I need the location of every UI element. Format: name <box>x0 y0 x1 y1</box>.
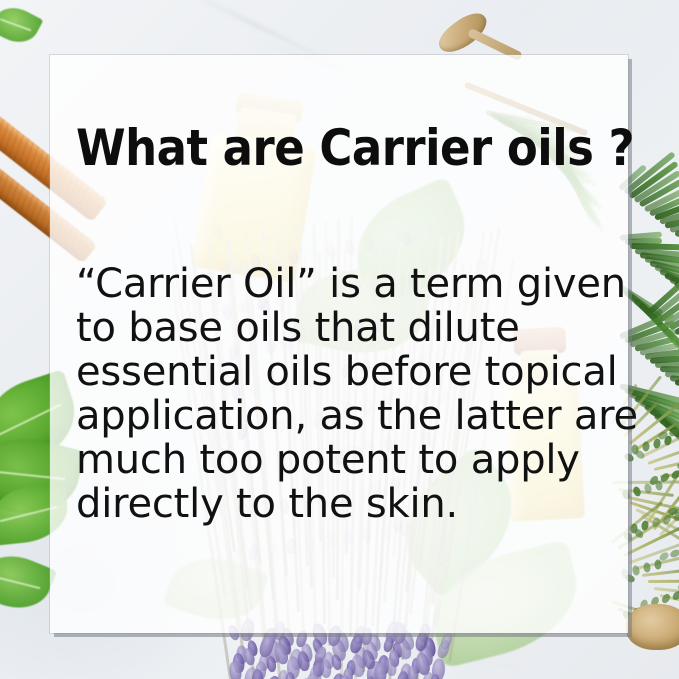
text-layer: What are Carrier oils ? “Carrier Oil” is… <box>0 0 679 679</box>
body-line: much too potent to apply <box>76 438 616 482</box>
infographic-card: What are Carrier oils ? “Carrier Oil” is… <box>0 0 679 679</box>
body-line: to base oils that dilute <box>76 306 616 350</box>
body-line: “Carrier Oil” is a term given <box>76 262 616 306</box>
body-paragraph: “Carrier Oil” is a term given to base oi… <box>76 262 616 526</box>
body-line: essential oils before topical <box>76 350 616 394</box>
page-title: What are Carrier oils ? <box>76 122 634 175</box>
body-line: directly to the skin. <box>76 482 616 526</box>
body-line: application, as the latter are <box>76 394 616 438</box>
